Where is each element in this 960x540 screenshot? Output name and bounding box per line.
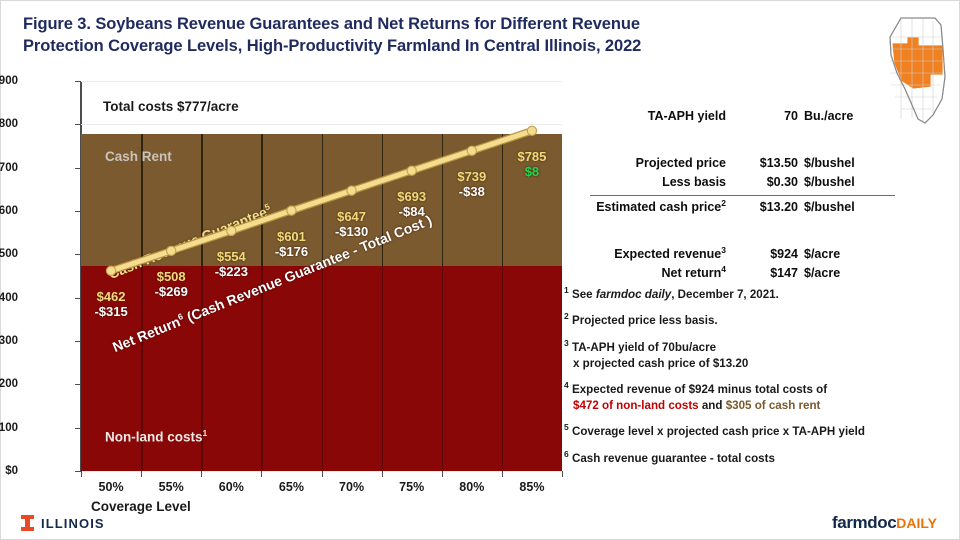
y-axis-label: $800	[0, 118, 18, 130]
assumptions-table: TA-APH yield 70 Bu./acre Projected price…	[576, 109, 916, 283]
footnote-6: 6 Cash revenue guarantee - total costs	[564, 446, 959, 467]
plot-area: Total costs $777/acre Cash Rent Non-land…	[81, 81, 562, 471]
footnote-5: 5 Coverage level x projected cash price …	[564, 419, 959, 440]
y-axis-label: $200	[0, 378, 18, 390]
y-axis-label: $700	[0, 162, 18, 174]
x-axis-title: Coverage Level	[91, 499, 191, 514]
table-row: Projected price $13.50 $/bushel	[576, 156, 916, 175]
x-axis-label: 55%	[141, 480, 201, 494]
row-label: Estimated cash price2	[576, 198, 726, 214]
net-return-value: $8	[497, 164, 567, 179]
series-point	[347, 186, 356, 195]
illinois-wordmark: ILLINOIS	[41, 516, 105, 531]
x-axis-label: 85%	[502, 480, 562, 494]
footnote-4: 4 Expected revenue of $924 minus total c…	[564, 377, 959, 414]
guarantee-value: $785	[497, 149, 567, 164]
row-label: TA-APH yield	[576, 109, 726, 123]
y-axis-label: $900	[0, 75, 18, 87]
row-unit: Bu./acre	[804, 109, 853, 123]
x-axis-tick	[261, 471, 262, 477]
table-row: Estimated cash price2 $13.20 $/bushel	[576, 198, 916, 217]
table-row: Less basis $0.30 $/bushel	[576, 175, 916, 194]
y-axis-label: $600	[0, 205, 18, 217]
page-title: Figure 3. Soybeans Revenue Guarantees an…	[23, 13, 723, 57]
x-axis-tick	[382, 471, 383, 477]
row-unit: $/bushel	[804, 200, 855, 214]
table-divider	[590, 195, 895, 196]
row-spacer	[576, 142, 916, 156]
x-axis-tick	[562, 471, 563, 477]
y-axis-label: $100	[0, 422, 18, 434]
x-axis-label: 70%	[322, 480, 382, 494]
university-of-illinois-logo: ILLINOIS	[21, 515, 105, 531]
series-point	[467, 146, 476, 155]
daily-word: DAILY	[896, 515, 937, 531]
row-label: Less basis	[576, 175, 726, 189]
row-label: Projected price	[576, 156, 726, 170]
x-axis-tick	[141, 471, 142, 477]
illinois-block-i-icon	[21, 515, 34, 531]
net-return-value: -$315	[76, 304, 146, 319]
row-spacer	[576, 231, 916, 245]
series-point	[527, 126, 536, 135]
farmdoc-daily-logo: farmdocDAILY	[832, 513, 937, 533]
y-axis-label: $500	[0, 248, 18, 260]
footnote-1: 1 See farmdoc daily, December 7, 2021.	[564, 282, 959, 303]
row-label: Net return4	[576, 264, 726, 280]
x-axis-label: 60%	[201, 480, 261, 494]
table-row: TA-APH yield 70 Bu./acre	[576, 109, 916, 128]
series-point	[407, 166, 416, 175]
net-return-value: -$269	[136, 284, 206, 299]
row-value: $147	[726, 266, 804, 280]
x-axis-tick	[201, 471, 202, 477]
row-spacer	[576, 217, 916, 231]
slide-root: Figure 3. Soybeans Revenue Guarantees an…	[0, 0, 960, 540]
y-axis-label: $300	[0, 335, 18, 347]
row-value: $0.30	[726, 175, 804, 189]
footnote-3: 3 TA-APH yield of 70bu/acrex projected c…	[564, 335, 959, 372]
net-return-value: -$130	[317, 224, 387, 239]
y-axis-label: $0	[0, 465, 18, 477]
y-axis-label: $400	[0, 292, 18, 304]
x-axis-label: 80%	[442, 480, 502, 494]
x-axis-tick	[322, 471, 323, 477]
series-point	[106, 266, 115, 275]
series-point	[287, 206, 296, 215]
row-unit: $/acre	[804, 247, 840, 261]
x-axis-tick	[502, 471, 503, 477]
x-axis-tick	[81, 471, 82, 477]
chart-region: Total costs $777/acre Cash Rent Non-land…	[19, 75, 564, 520]
x-axis-tick	[442, 471, 443, 477]
series-point	[167, 246, 176, 255]
row-spacer	[576, 128, 916, 142]
row-unit: $/bushel	[804, 175, 855, 189]
row-value: $13.20	[726, 200, 804, 214]
x-axis-label: 50%	[81, 480, 141, 494]
row-value: $924	[726, 247, 804, 261]
x-axis-label: 75%	[382, 480, 442, 494]
x-axis-label: 65%	[261, 480, 321, 494]
series-point	[227, 226, 236, 235]
row-value: $13.50	[726, 156, 804, 170]
farmdoc-word: farmdoc	[832, 513, 896, 532]
net-return-value: -$176	[256, 244, 326, 259]
footnotes-list: 1 See farmdoc daily, December 7, 2021. 2…	[564, 282, 959, 472]
row-unit: $/acre	[804, 266, 840, 280]
net-return-value: -$38	[437, 184, 507, 199]
footnote-2: 2 Projected price less basis.	[564, 308, 959, 329]
net-return-value: -$84	[377, 204, 447, 219]
net-return-value: -$223	[196, 264, 266, 279]
data-point-label: $785$8	[497, 149, 567, 179]
row-unit: $/bushel	[804, 156, 855, 170]
row-label: Expected revenue3	[576, 245, 726, 261]
table-row: Expected revenue3 $924 $/acre	[576, 245, 916, 264]
table-row: Net return4 $147 $/acre	[576, 264, 916, 283]
row-value: 70	[726, 109, 804, 123]
